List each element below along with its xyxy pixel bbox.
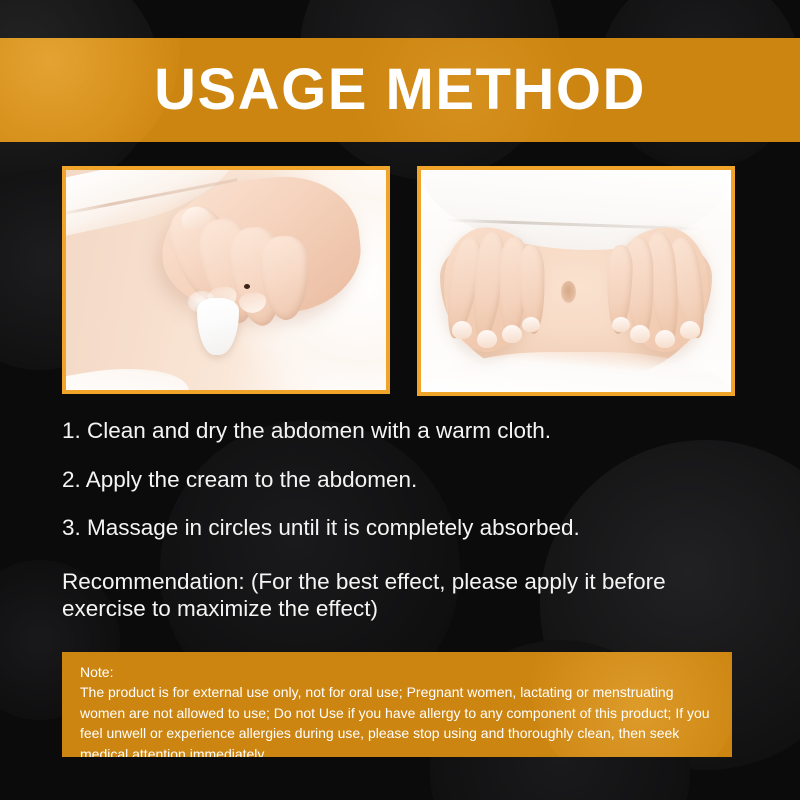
- recommendation-text: Recommendation: (For the best effect, pl…: [62, 568, 722, 623]
- header-banner: USAGE METHOD: [0, 38, 800, 142]
- photo-massaging-abdomen: [417, 166, 735, 396]
- usage-method-infographic: USAGE METHOD: [0, 0, 800, 800]
- photo-applying-cream-image: [66, 170, 386, 390]
- usage-step-item: 1. Clean and dry the abdomen with a warm…: [62, 420, 752, 443]
- photo-applying-cream: [62, 166, 390, 394]
- note-box: Note: The product is for external use on…: [62, 652, 732, 757]
- usage-step-item: 3. Massage in circles until it is comple…: [62, 517, 752, 540]
- note-body: The product is for external use only, no…: [80, 682, 716, 757]
- page-title: USAGE METHOD: [0, 38, 800, 142]
- photo-massaging-abdomen-image: [421, 170, 731, 392]
- usage-steps-list: 1. Clean and dry the abdomen with a warm…: [62, 420, 752, 566]
- note-title: Note:: [80, 662, 716, 682]
- usage-step-item: 2. Apply the cream to the abdomen.: [62, 469, 752, 492]
